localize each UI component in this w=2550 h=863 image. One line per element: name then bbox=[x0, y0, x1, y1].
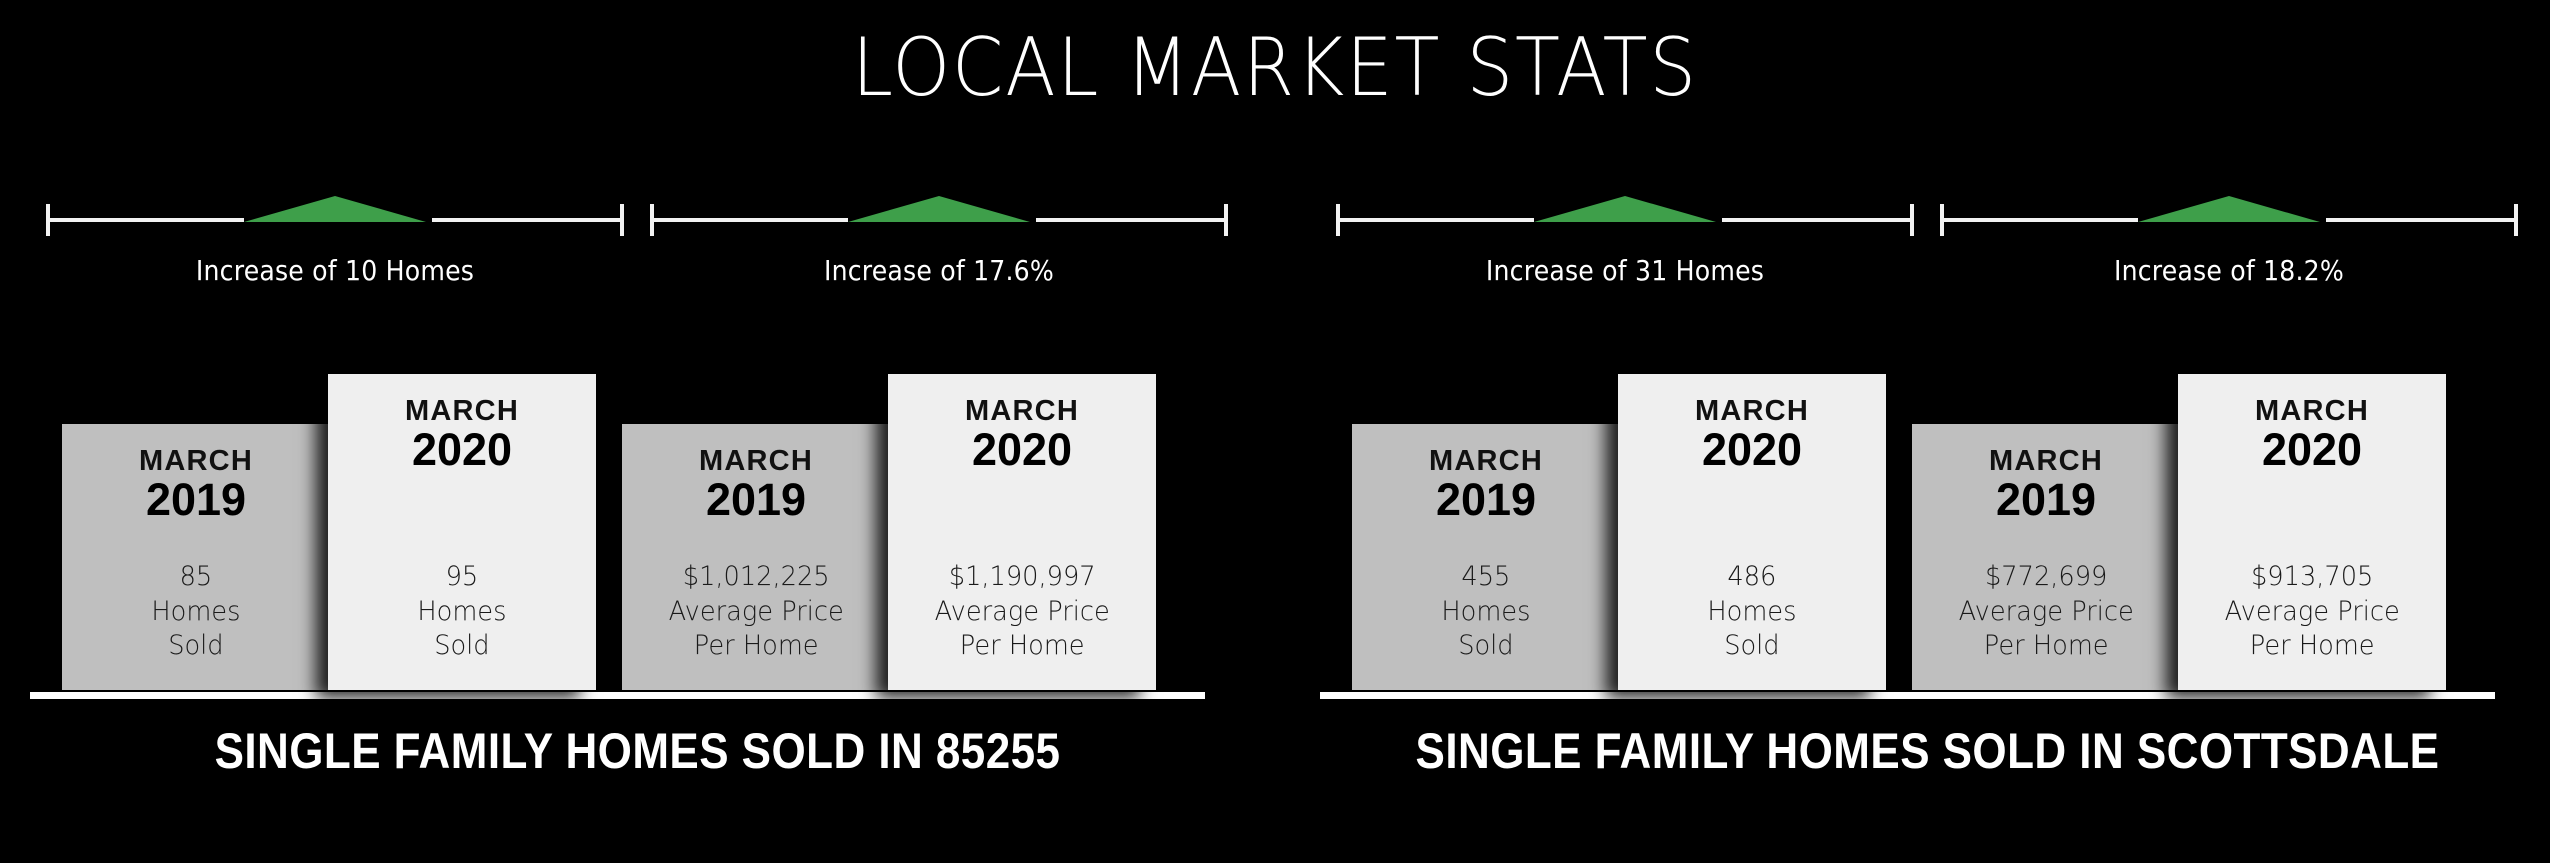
card-detail: $772,699 Average Price Per Home bbox=[1958, 560, 2133, 664]
card-line3: Per Home bbox=[934, 629, 1109, 664]
card-year: 2020 bbox=[412, 426, 512, 473]
stat-card: MARCH 2019 455 Homes Sold bbox=[1352, 424, 1620, 690]
panel-footer-title: SINGLE FAMILY HOMES SOLD IN SCOTTSDALE bbox=[1402, 722, 2454, 780]
card-value: $772,699 bbox=[1958, 560, 2133, 595]
card-month: MARCH bbox=[1695, 396, 1809, 426]
card-value: 85 bbox=[151, 560, 240, 595]
baseline-rule bbox=[30, 692, 1205, 699]
card-line2: Average Price bbox=[668, 595, 843, 630]
card-month: MARCH bbox=[139, 446, 253, 476]
card-detail: $1,190,997 Average Price Per Home bbox=[934, 560, 1109, 664]
infographic-canvas: LOCAL MARKET STATS Increase of 10 Homes bbox=[0, 0, 2550, 863]
card-value: 486 bbox=[1707, 560, 1796, 595]
card-line3: Sold bbox=[417, 629, 506, 664]
card-year: 2019 bbox=[706, 476, 806, 523]
card-year: 2019 bbox=[1436, 476, 1536, 523]
card-detail: $913,705 Average Price Per Home bbox=[2224, 560, 2399, 664]
card-month: MARCH bbox=[965, 396, 1079, 426]
stat-card: MARCH 2020 486 Homes Sold bbox=[1618, 374, 1886, 690]
card-line2: Homes bbox=[151, 595, 240, 630]
stat-card: MARCH 2019 $1,012,225 Average Price Per … bbox=[622, 424, 890, 690]
card-detail: 486 Homes Sold bbox=[1707, 560, 1796, 664]
panel-footer-title: SINGLE FAMILY HOMES SOLD IN 85255 bbox=[112, 722, 1164, 780]
card-line2: Average Price bbox=[1958, 595, 2133, 630]
card-year: 2019 bbox=[146, 476, 246, 523]
card-line2: Homes bbox=[1707, 595, 1796, 630]
stat-card: MARCH 2020 $1,190,997 Average Price Per … bbox=[888, 374, 1156, 690]
card-line3: Sold bbox=[151, 629, 240, 664]
stat-card: MARCH 2019 85 Homes Sold bbox=[62, 424, 330, 690]
stat-card: MARCH 2020 $913,705 Average Price Per Ho… bbox=[2178, 374, 2446, 690]
panel-scottsdale: Increase of 31 Homes Increase of 18.2% M… bbox=[1330, 0, 2525, 863]
card-month: MARCH bbox=[2255, 396, 2369, 426]
card-line3: Per Home bbox=[1958, 629, 2133, 664]
card-year: 2020 bbox=[972, 426, 1072, 473]
card-line2: Homes bbox=[417, 595, 506, 630]
baseline-rule bbox=[1320, 692, 2495, 699]
card-line3: Per Home bbox=[668, 629, 843, 664]
card-value: 95 bbox=[417, 560, 506, 595]
card-year: 2020 bbox=[2262, 426, 2362, 473]
card-month: MARCH bbox=[1429, 446, 1543, 476]
card-year: 2019 bbox=[1996, 476, 2096, 523]
card-value: $1,190,997 bbox=[934, 560, 1109, 595]
stat-card: MARCH 2020 95 Homes Sold bbox=[328, 374, 596, 690]
card-detail: 95 Homes Sold bbox=[417, 560, 506, 664]
card-detail: 455 Homes Sold bbox=[1441, 560, 1530, 664]
card-line2: Homes bbox=[1441, 595, 1530, 630]
card-month: MARCH bbox=[1989, 446, 2103, 476]
panel-zip-85255: Increase of 10 Homes Increase of 17.6% M… bbox=[40, 0, 1235, 863]
card-detail: $1,012,225 Average Price Per Home bbox=[668, 560, 843, 664]
card-value: 455 bbox=[1441, 560, 1530, 595]
card-month: MARCH bbox=[405, 396, 519, 426]
stat-card: MARCH 2019 $772,699 Average Price Per Ho… bbox=[1912, 424, 2180, 690]
card-line3: Per Home bbox=[2224, 629, 2399, 664]
card-month: MARCH bbox=[699, 446, 813, 476]
card-value: $913,705 bbox=[2224, 560, 2399, 595]
card-line3: Sold bbox=[1441, 629, 1530, 664]
card-line2: Average Price bbox=[934, 595, 1109, 630]
card-line2: Average Price bbox=[2224, 595, 2399, 630]
card-line3: Sold bbox=[1707, 629, 1796, 664]
card-year: 2020 bbox=[1702, 426, 1802, 473]
card-value: $1,012,225 bbox=[668, 560, 843, 595]
card-detail: 85 Homes Sold bbox=[151, 560, 240, 664]
